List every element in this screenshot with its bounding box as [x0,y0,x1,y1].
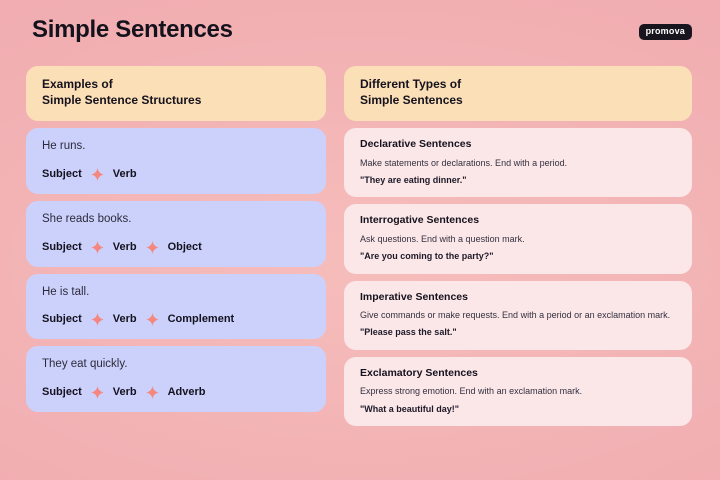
left-header-line1: Examples of [42,77,310,93]
sentence-type-example: "They are eating dinner." [360,175,676,187]
sentence-type-title: Exclamatory Sentences [360,367,676,380]
structure-card: He is tall. Subject Verb Complement [26,274,326,340]
formula-part: Adverb [168,387,206,398]
formula-part: Object [168,242,202,253]
sentence-type-example: "Are you coming to the party?" [360,251,676,263]
formula-part: Verb [113,387,137,398]
formula-part: Verb [113,314,137,325]
structure-card: She reads books. Subject Verb Objec [26,201,326,267]
structure-example: They eat quickly. [42,358,310,372]
sentence-type-description: Ask questions. End with a question mark. [360,233,676,246]
structure-formula: Subject Verb [42,168,310,181]
infographic-poster: Simple Sentences promova Examples of Sim… [0,0,720,480]
right-header-line1: Different Types of [360,77,676,93]
sentence-type-card: Exclamatory Sentences Express strong emo… [344,357,692,426]
promova-logo: promova [639,24,692,40]
sentence-type-description: Give commands or make requests. End with… [360,309,676,322]
plus-icon [146,241,159,254]
page-title: Simple Sentences [32,18,233,42]
formula-part: Subject [42,387,82,398]
formula-part: Subject [42,314,82,325]
structure-example: He is tall. [42,286,310,300]
left-column-header: Examples of Simple Sentence Structures [26,66,326,121]
poster-header: Simple Sentences promova [26,16,700,60]
sentence-type-title: Imperative Sentences [360,291,676,304]
structure-formula: Subject Verb Complement [42,313,310,326]
sentence-type-description: Express strong emotion. End with an excl… [360,385,676,398]
sentence-type-title: Interrogative Sentences [360,214,676,227]
structure-example: She reads books. [42,213,310,227]
left-column: Examples of Simple Sentence Structures H… [26,66,326,426]
formula-part: Subject [42,169,82,180]
sentence-type-card: Interrogative Sentences Ask questions. E… [344,204,692,273]
formula-part: Verb [113,242,137,253]
sentence-type-card: Imperative Sentences Give commands or ma… [344,281,692,350]
structure-card: They eat quickly. Subject Verb Adve [26,346,326,412]
sentence-type-card: Declarative Sentences Make statements or… [344,128,692,197]
plus-icon [91,241,104,254]
plus-icon [91,313,104,326]
sentence-type-example: "Please pass the salt." [360,327,676,339]
formula-part: Subject [42,242,82,253]
plus-icon [91,386,104,399]
plus-icon [146,313,159,326]
right-column-header: Different Types of Simple Sentences [344,66,692,121]
right-header-line2: Simple Sentences [360,93,676,109]
columns-container: Examples of Simple Sentence Structures H… [26,66,700,426]
structure-example: He runs. [42,140,310,154]
right-column: Different Types of Simple Sentences Decl… [344,66,692,426]
structure-formula: Subject Verb Adverb [42,386,310,399]
plus-icon [91,168,104,181]
formula-part: Complement [168,314,235,325]
plus-icon [146,386,159,399]
sentence-type-description: Make statements or declarations. End wit… [360,157,676,170]
formula-part: Verb [113,169,137,180]
sentence-type-example: "What a beautiful day!" [360,404,676,416]
left-header-line2: Simple Sentence Structures [42,93,310,109]
structure-card: He runs. Subject Verb [26,128,326,194]
structure-formula: Subject Verb Object [42,241,310,254]
sentence-type-title: Declarative Sentences [360,138,676,151]
